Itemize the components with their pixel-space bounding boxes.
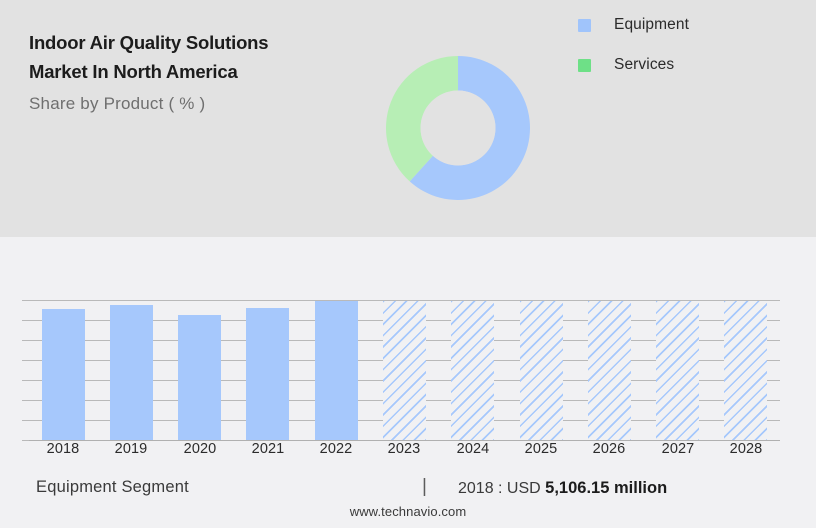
- page-title-line-2: Market In North America: [29, 57, 359, 86]
- bar-actual[interactable]: [42, 309, 85, 441]
- legend-swatch-services-icon: [578, 59, 591, 72]
- bar-forecast[interactable]: [451, 301, 494, 441]
- y-axis-tick: [22, 360, 29, 361]
- chart-legend: Equipment Services: [578, 14, 689, 94]
- y-axis-tick: [22, 420, 29, 421]
- x-axis-label: 2023: [374, 441, 434, 457]
- donut-chart-svg: [386, 56, 530, 200]
- legend-label-equipment: Equipment: [614, 16, 689, 34]
- donut-chart: [386, 56, 530, 200]
- x-axis-label: 2026: [579, 441, 639, 457]
- y-axis-tick: [22, 340, 29, 341]
- bar-actual[interactable]: [110, 305, 153, 441]
- x-axis-label: 2025: [511, 441, 571, 457]
- bar-forecast[interactable]: [724, 301, 767, 441]
- x-axis-label: 2018: [33, 441, 93, 457]
- title-block: Indoor Air Quality Solutions Market In N…: [29, 28, 359, 115]
- y-axis-tick: [22, 380, 29, 381]
- page-title-line-1: Indoor Air Quality Solutions: [29, 28, 359, 57]
- bar-forecast[interactable]: [588, 301, 631, 441]
- x-axis-labels: 2018201920202021202220232024202520262027…: [29, 441, 780, 465]
- bar-forecast[interactable]: [520, 301, 563, 441]
- x-axis-label: 2020: [170, 441, 230, 457]
- y-axis-tick: [22, 300, 29, 301]
- x-axis-label: 2027: [648, 441, 708, 457]
- bar-actual[interactable]: [246, 308, 289, 441]
- x-axis-label: 2028: [716, 441, 776, 457]
- x-axis-label: 2022: [306, 441, 366, 457]
- bar-series: [29, 300, 780, 441]
- footer-url: www.technavio.com: [0, 504, 816, 519]
- y-axis-tick: [22, 400, 29, 401]
- footer: Equipment Segment | 2018 : USD 5,106.15 …: [0, 471, 816, 528]
- legend-swatch-equipment-icon: [578, 19, 591, 32]
- x-axis-label: 2021: [238, 441, 298, 457]
- legend-item-services[interactable]: Services: [578, 54, 689, 76]
- x-axis-label: 2024: [443, 441, 503, 457]
- x-axis-label: 2019: [101, 441, 161, 457]
- footer-value: 2018 : USD 5,106.15 million: [458, 479, 667, 498]
- legend-label-services: Services: [614, 56, 674, 74]
- y-axis-tick: [22, 320, 29, 321]
- bar-chart-plot: [29, 300, 780, 441]
- bar-forecast[interactable]: [383, 301, 426, 441]
- y-axis-tick: [22, 440, 29, 441]
- donut-hole: [421, 91, 496, 166]
- footer-divider: |: [422, 476, 427, 498]
- footer-segment-label: Equipment Segment: [36, 478, 189, 497]
- page-subtitle: Share by Product ( % ): [29, 93, 359, 115]
- bar-actual[interactable]: [315, 301, 358, 441]
- bar-chart-panel: 2018201920202021202220232024202520262027…: [0, 237, 816, 471]
- header-banner: Indoor Air Quality Solutions Market In N…: [0, 0, 816, 237]
- infographic-canvas: Indoor Air Quality Solutions Market In N…: [0, 0, 816, 528]
- footer-value-amount: 5,106.15 million: [545, 479, 667, 497]
- footer-value-prefix: 2018 : USD: [458, 480, 541, 497]
- bar-forecast[interactable]: [656, 301, 699, 441]
- legend-item-equipment[interactable]: Equipment: [578, 14, 689, 36]
- bar-actual[interactable]: [178, 315, 221, 441]
